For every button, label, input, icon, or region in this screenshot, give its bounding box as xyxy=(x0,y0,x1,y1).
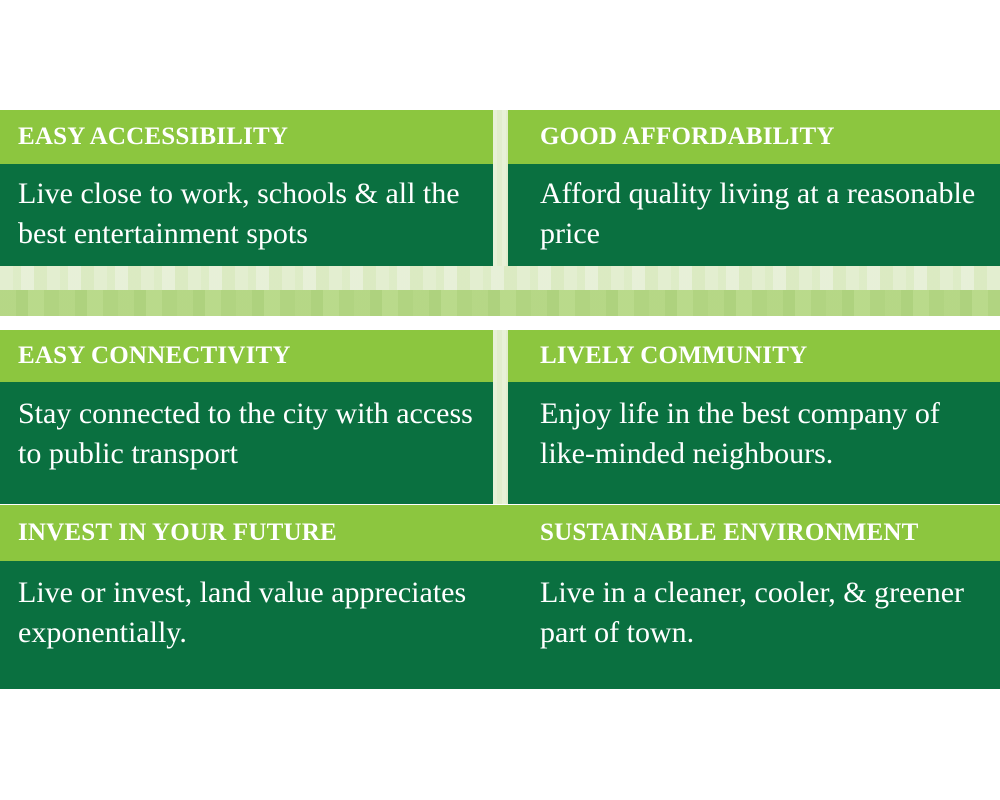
card-title: SUSTAINABLE ENVIRONMENT xyxy=(540,520,919,546)
column-gutter-row-1 xyxy=(493,110,508,266)
card-header: EASY CONNECTIVITY xyxy=(0,330,493,382)
card-title: LIVELY COMMUNITY xyxy=(540,343,807,369)
card-description: Live in a cleaner, cooler, & greener par… xyxy=(540,573,982,652)
card-header: INVEST IN YOUR FUTURE xyxy=(0,505,508,561)
benefit-card-sustainable-environment[interactable]: SUSTAINABLE ENVIRONMENT Live in a cleane… xyxy=(508,505,1000,689)
card-title: INVEST IN YOUR FUTURE xyxy=(18,520,337,546)
card-body: Enjoy life in the best company of like-m… xyxy=(508,382,1000,504)
card-title: GOOD AFFORDABILITY xyxy=(540,124,835,150)
card-header: EASY ACCESSIBILITY xyxy=(0,110,493,164)
card-title: EASY CONNECTIVITY xyxy=(18,343,291,369)
card-header: GOOD AFFORDABILITY xyxy=(508,110,1000,164)
benefit-card-easy-connectivity[interactable]: EASY CONNECTIVITY Stay connected to the … xyxy=(0,330,493,504)
card-header: SUSTAINABLE ENVIRONMENT xyxy=(508,505,1000,561)
card-header: LIVELY COMMUNITY xyxy=(508,330,1000,382)
card-body: Live in a cleaner, cooler, & greener par… xyxy=(508,561,1000,689)
card-body: Afford quality living at a reasonable pr… xyxy=(508,164,1000,266)
decorative-faded-band xyxy=(0,266,1000,316)
card-body: Live close to work, schools & all the be… xyxy=(0,164,493,266)
card-description: Live close to work, schools & all the be… xyxy=(18,174,475,253)
benefit-card-easy-accessibility[interactable]: EASY ACCESSIBILITY Live close to work, s… xyxy=(0,110,493,266)
card-description: Live or invest, land value appreciates e… xyxy=(18,573,478,652)
card-description: Stay connected to the city with access t… xyxy=(18,394,475,473)
card-body: Live or invest, land value appreciates e… xyxy=(0,561,508,689)
band-bottom-stripe xyxy=(0,290,1000,316)
card-body: Stay connected to the city with access t… xyxy=(0,382,493,504)
benefit-card-invest-in-your-future[interactable]: INVEST IN YOUR FUTURE Live or invest, la… xyxy=(0,505,508,689)
benefits-grid: EASY ACCESSIBILITY Live close to work, s… xyxy=(0,0,1000,800)
card-title: EASY ACCESSIBILITY xyxy=(18,124,288,150)
card-description: Enjoy life in the best company of like-m… xyxy=(540,394,982,473)
band-top-stripe xyxy=(0,266,1000,290)
benefit-card-lively-community[interactable]: LIVELY COMMUNITY Enjoy life in the best … xyxy=(508,330,1000,504)
card-description: Afford quality living at a reasonable pr… xyxy=(540,174,982,253)
column-gutter-row-2 xyxy=(493,330,508,504)
benefit-card-good-affordability[interactable]: GOOD AFFORDABILITY Afford quality living… xyxy=(508,110,1000,266)
